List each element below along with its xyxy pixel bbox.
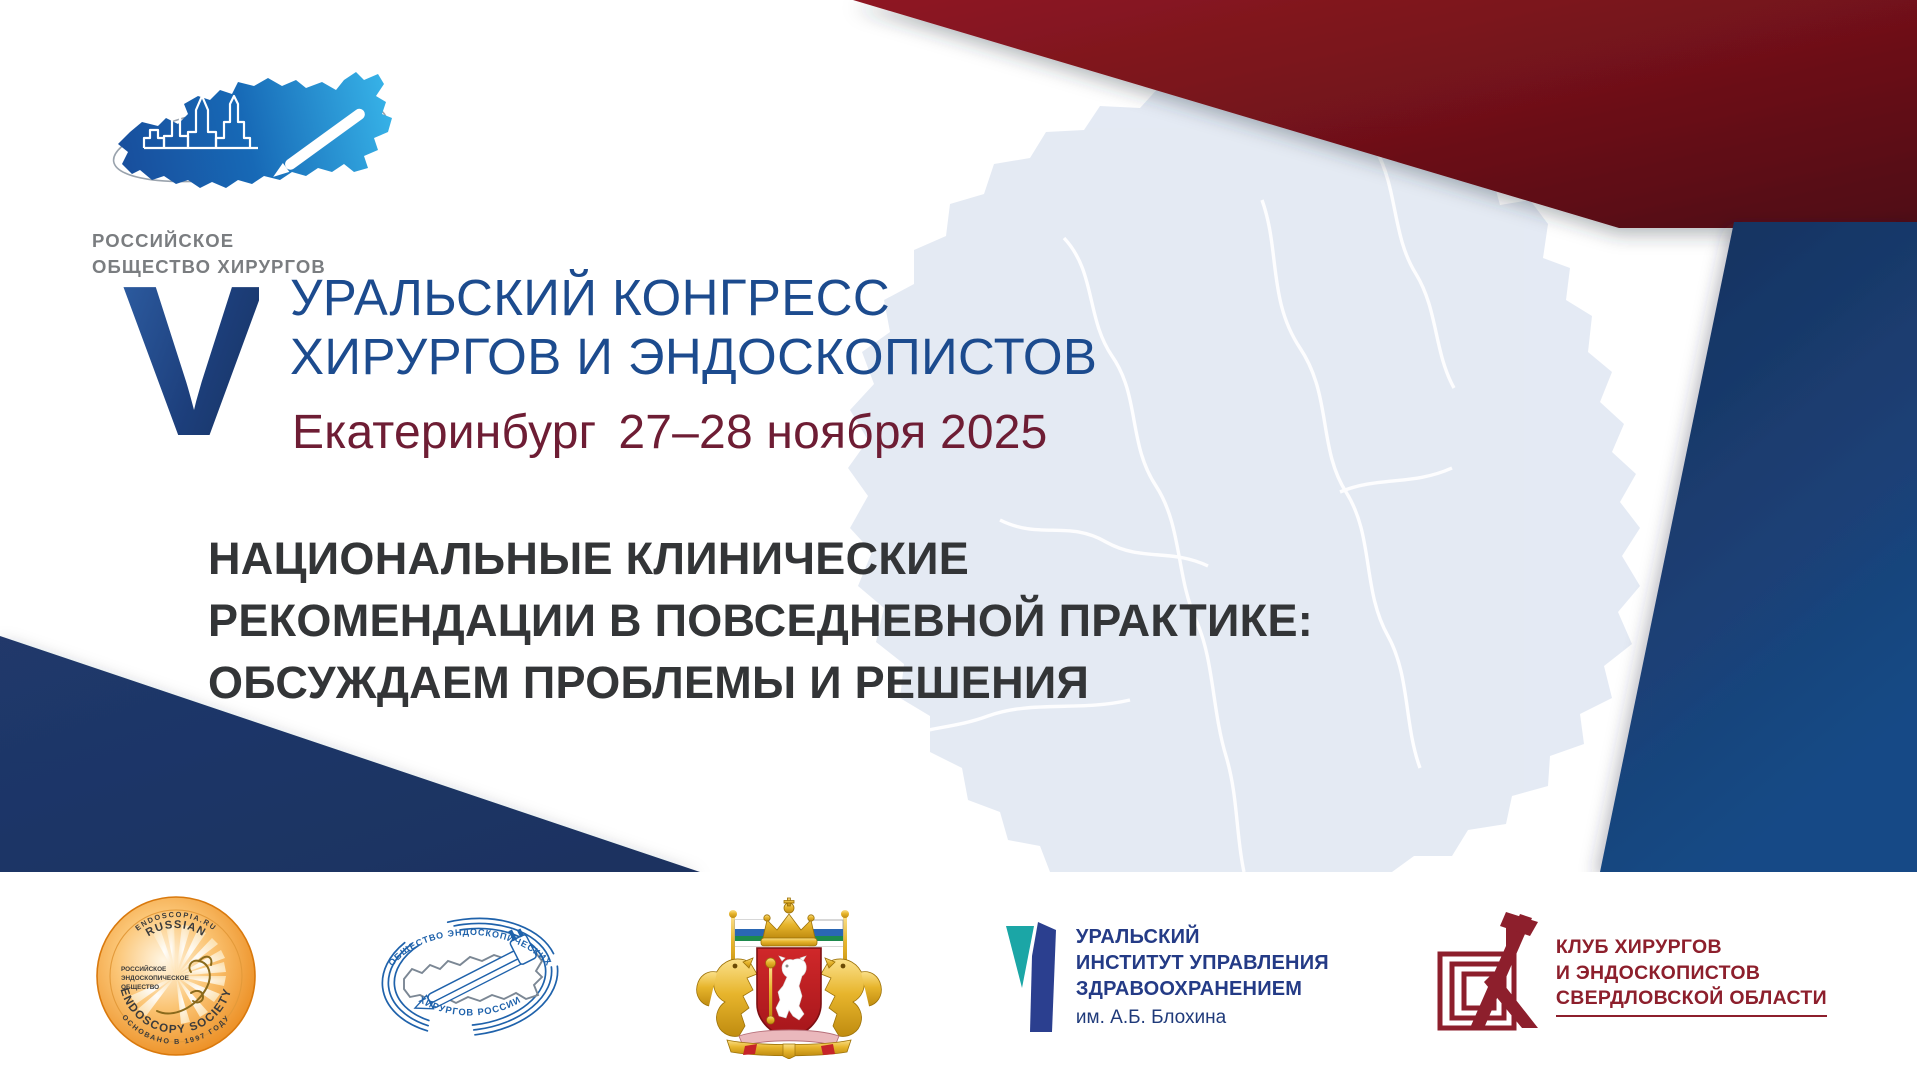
- city-and-dates: Екатеринбург27–28 ноября 2025: [292, 405, 1048, 460]
- club-line1: КЛУБ ХИРУРГОВ: [1556, 935, 1827, 960]
- logo-sverdlovsk-coat-of-arms: [683, 894, 895, 1059]
- club-line3: СВЕРДЛОВСКОЙ ОБЛАСТИ: [1556, 986, 1827, 1016]
- uium-line3: ЗДРАВООХРАНЕНИЕМ: [1076, 976, 1329, 1002]
- russian-society-of-surgeons-logo: РОССИЙСКОЕОБЩЕСТВО ХИРУРГОВ: [92, 52, 432, 222]
- partner-logo-band: РОССИЙСКОЕ ЭНДОСКОПИЧЕСКОЕ ОБЩЕСТВО ENDO…: [0, 872, 1917, 1080]
- congress-theme: НАЦИОНАЛЬНЫЕ КЛИНИЧЕСКИЕ РЕКОМЕНДАЦИИ В …: [208, 528, 1313, 714]
- poster-canvas: РОССИЙСКОЕОБЩЕСТВО ХИРУРГОВ V УРАЛЬСКИЙ …: [0, 0, 1917, 1080]
- logo-society-of-endoscopic-surgeons: ОБЩЕСТВО ЭНДОСКОПИЧЕСКИХ ХИРУРГОВ РОССИИ: [362, 901, 578, 1051]
- logo-russian-endoscopy-society: РОССИЙСКОЕ ЭНДОСКОПИЧЕСКОЕ ОБЩЕСТВО ENDO…: [95, 895, 257, 1057]
- club-k-mark-icon: [1434, 908, 1544, 1044]
- congress-dates: 27–28 ноября 2025: [618, 406, 1047, 459]
- theme-line2: РЕКОМЕНДАЦИИ В ПОВСЕДНЕВНОЙ ПРАКТИКЕ:: [208, 590, 1313, 652]
- theme-line1: НАЦИОНАЛЬНЫЕ КЛИНИЧЕСКИЕ: [208, 528, 1313, 590]
- logo-club-of-surgeons-and-endoscopists: КЛУБ ХИРУРГОВ И ЭНДОСКОПИСТОВ СВЕРДЛОВСК…: [1434, 908, 1827, 1044]
- congress-ordinal: V: [122, 253, 259, 468]
- theme-line3: ОБСУЖДАЕМ ПРОБЛЕМЫ И РЕШЕНИЯ: [208, 652, 1313, 714]
- city-name: Екатеринбург: [292, 406, 596, 459]
- seal-center-line1: РОССИЙСКОЕ: [121, 964, 167, 973]
- uium-line2: ИНСТИТУТ УПРАВЛЕНИЯ: [1076, 950, 1329, 976]
- congress-title-line1: УРАЛЬСКИЙ КОНГРЕСС: [290, 269, 890, 326]
- uium-line4: им. А.Б. Блохина: [1076, 1007, 1329, 1029]
- seal-center-line2: ЭНДОСКОПИЧЕСКОЕ: [121, 975, 190, 982]
- logo-ural-institute-of-health-management: УРАЛЬСКИЙ ИНСТИТУТ УПРАВЛЕНИЯ ЗДРАВООХРА…: [1000, 912, 1329, 1040]
- coat-of-arms-icon: [683, 894, 895, 1059]
- endoscopic-surgeons-oval-icon: ОБЩЕСТВО ЭНДОСКОПИЧЕСКИХ ХИРУРГОВ РОССИИ: [362, 901, 578, 1051]
- club-line2: И ЭНДОСКОПИСТОВ: [1556, 961, 1827, 986]
- congress-title-line2: ХИРУРГОВ И ЭНДОСКОПИСТОВ: [290, 327, 1097, 386]
- russia-map-icon: [92, 52, 432, 224]
- club-text: КЛУБ ХИРУРГОВ И ЭНДОСКОПИСТОВ СВЕРДЛОВСК…: [1556, 935, 1827, 1016]
- congress-title: УРАЛЬСКИЙ КОНГРЕСС ХИРУРГОВ И ЭНДОСКОПИС…: [290, 268, 1097, 386]
- endoscopy-society-seal-icon: РОССИЙСКОЕ ЭНДОСКОПИЧЕСКОЕ ОБЩЕСТВО ENDO…: [95, 895, 257, 1057]
- ural-institute-mark-icon: [1000, 912, 1062, 1040]
- uium-line1: УРАЛЬСКИЙ: [1076, 924, 1329, 950]
- ural-institute-text: УРАЛЬСКИЙ ИНСТИТУТ УПРАВЛЕНИЯ ЗДРАВООХРА…: [1076, 924, 1329, 1029]
